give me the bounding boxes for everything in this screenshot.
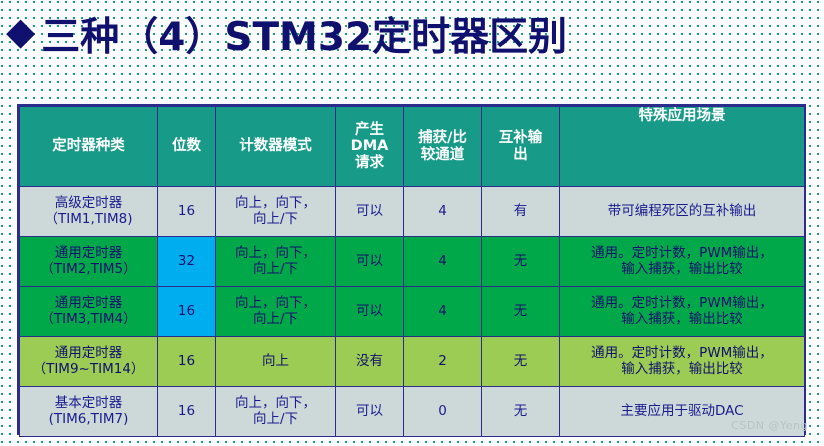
cell-type: 通用定时器（TIM9~TIM14）	[20, 337, 158, 387]
cell-mode: 向上，向下，向上/下	[216, 187, 336, 237]
cell-type: 基本定时器(TIM6,TIM7)	[20, 387, 158, 437]
cell-capture: 4	[404, 237, 482, 287]
cell-bits: 16	[158, 187, 216, 237]
cell-capture: 4	[404, 187, 482, 237]
table-header-line: 计数器模式	[218, 138, 333, 154]
cell-scene: 通用。定时计数，PWM输出，输入捕获，输出比较	[560, 237, 805, 287]
cell-complementary: 有	[482, 187, 560, 237]
table-header-line: 较通道	[406, 147, 479, 163]
cell-line: 向上，向下，	[218, 296, 333, 311]
cell-line: 通用定时器	[22, 296, 155, 311]
cell-line: 向上	[218, 354, 333, 369]
table-header: 定时器种类位数计数器模式产生DMA请求捕获/比较通道互补输出特殊应用场景	[20, 107, 805, 187]
table-row: 基本定时器(TIM6,TIM7)16向上，向下，向上/下可以0无主要应用于驱动D…	[20, 387, 805, 437]
cell-complementary: 无	[482, 287, 560, 337]
cell-line: 向上，向下，	[218, 196, 333, 211]
table-header-cell-3: 产生DMA请求	[336, 107, 404, 187]
cell-type: 通用定时器（TIM3,TIM4）	[20, 287, 158, 337]
cell-line: 向上/下	[218, 412, 333, 427]
cell-mode: 向上	[216, 337, 336, 387]
cell-scene: 通用。定时计数，PWM输出，输入捕获，输出比较	[560, 337, 805, 387]
cell-line: 向上/下	[218, 212, 333, 227]
table-header-line: 特殊应用场景	[562, 108, 802, 124]
table-header-line: 捕获/比	[406, 130, 479, 146]
cell-mode: 向上，向下，向上/下	[216, 237, 336, 287]
page-title: 三种（4）STM32定时器区别	[41, 6, 567, 62]
cell-line: 通用。定时计数，PWM输出，	[562, 296, 802, 311]
cell-bits: 32	[158, 237, 216, 287]
cell-scene: 通用。定时计数，PWM输出，输入捕获，输出比较	[560, 287, 805, 337]
table-header-cell-0: 定时器种类	[20, 107, 158, 187]
cell-line: 通用定时器	[22, 346, 155, 361]
cell-dma: 没有	[336, 337, 404, 387]
cell-capture: 2	[404, 337, 482, 387]
cell-line: 通用。定时计数，PWM输出，	[562, 246, 802, 261]
table-header-cell-1: 位数	[158, 107, 216, 187]
cell-bits: 16	[158, 337, 216, 387]
cell-line: 主要应用于驱动DAC	[562, 404, 802, 419]
cell-dma: 可以	[336, 237, 404, 287]
cell-line: 向上，向下，	[218, 246, 333, 261]
table-header-line: 位数	[160, 138, 213, 154]
table-header-row: 定时器种类位数计数器模式产生DMA请求捕获/比较通道互补输出特殊应用场景	[20, 107, 805, 187]
timer-comparison-table: 定时器种类位数计数器模式产生DMA请求捕获/比较通道互补输出特殊应用场景 高级定…	[19, 106, 805, 437]
cell-mode: 向上，向下，向上/下	[216, 287, 336, 337]
cell-line: 输入捕获，输出比较	[562, 362, 802, 377]
table-header-line: 产生	[338, 122, 401, 138]
cell-line: 基本定时器	[22, 396, 155, 411]
table-header-cell-6: 特殊应用场景	[560, 107, 805, 187]
cell-capture: 4	[404, 287, 482, 337]
table-header-line: 请求	[338, 155, 401, 171]
cell-capture: 0	[404, 387, 482, 437]
cell-line: 向上/下	[218, 312, 333, 327]
cell-line: （TIM3,TIM4）	[22, 312, 155, 327]
cell-complementary: 无	[482, 237, 560, 287]
cell-line: 输入捕获，输出比较	[562, 262, 802, 277]
table-header-line: 出	[484, 147, 557, 163]
slide-title-bar: ◆ 三种（4）STM32定时器区别	[6, 6, 818, 62]
cell-line: 向上/下	[218, 262, 333, 277]
cell-dma: 可以	[336, 187, 404, 237]
diamond-bullet-icon: ◆	[6, 13, 35, 51]
cell-line: 通用定时器	[22, 246, 155, 261]
cell-line: 高级定时器	[22, 196, 155, 211]
table-row: 通用定时器（TIM2,TIM5）32向上，向下，向上/下可以4无通用。定时计数，…	[20, 237, 805, 287]
cell-line: 输入捕获，输出比较	[562, 312, 802, 327]
table-header-cell-5: 互补输出	[482, 107, 560, 187]
table-row: 通用定时器（TIM3,TIM4）16向上，向下，向上/下可以4无通用。定时计数，…	[20, 287, 805, 337]
table-row: 高级定时器（TIM1,TIM8)16向上，向下，向上/下可以4有带可编程死区的互…	[20, 187, 805, 237]
cell-bits: 16	[158, 387, 216, 437]
csdn-watermark: CSDN @Yeng	[731, 419, 808, 432]
table-header-line: 定时器种类	[22, 138, 155, 154]
table-header-cell-2: 计数器模式	[216, 107, 336, 187]
cell-complementary: 无	[482, 387, 560, 437]
table-row: 通用定时器（TIM9~TIM14）16向上没有2无通用。定时计数，PWM输出，输…	[20, 337, 805, 387]
cell-mode: 向上，向下，向上/下	[216, 387, 336, 437]
table-header-line: DMA	[338, 138, 401, 154]
timer-comparison-table-container: 定时器种类位数计数器模式产生DMA请求捕获/比较通道互补输出特殊应用场景 高级定…	[17, 104, 806, 435]
cell-line: (TIM6,TIM7)	[22, 412, 155, 427]
cell-type: 高级定时器（TIM1,TIM8)	[20, 187, 158, 237]
cell-line: （TIM2,TIM5）	[22, 262, 155, 277]
cell-type: 通用定时器（TIM2,TIM5）	[20, 237, 158, 287]
cell-line: 向上，向下，	[218, 396, 333, 411]
cell-scene: 带可编程死区的互补输出	[560, 187, 805, 237]
cell-dma: 可以	[336, 287, 404, 337]
cell-dma: 可以	[336, 387, 404, 437]
cell-bits: 16	[158, 287, 216, 337]
cell-line: （TIM9~TIM14）	[22, 362, 155, 377]
cell-line: 带可编程死区的互补输出	[562, 204, 802, 219]
cell-complementary: 无	[482, 337, 560, 387]
cell-line: （TIM1,TIM8)	[22, 212, 155, 227]
cell-line: 通用。定时计数，PWM输出，	[562, 346, 802, 361]
table-header-line: 互补输	[484, 130, 557, 146]
table-header-cell-4: 捕获/比较通道	[404, 107, 482, 187]
table-body: 高级定时器（TIM1,TIM8)16向上，向下，向上/下可以4有带可编程死区的互…	[20, 187, 805, 437]
